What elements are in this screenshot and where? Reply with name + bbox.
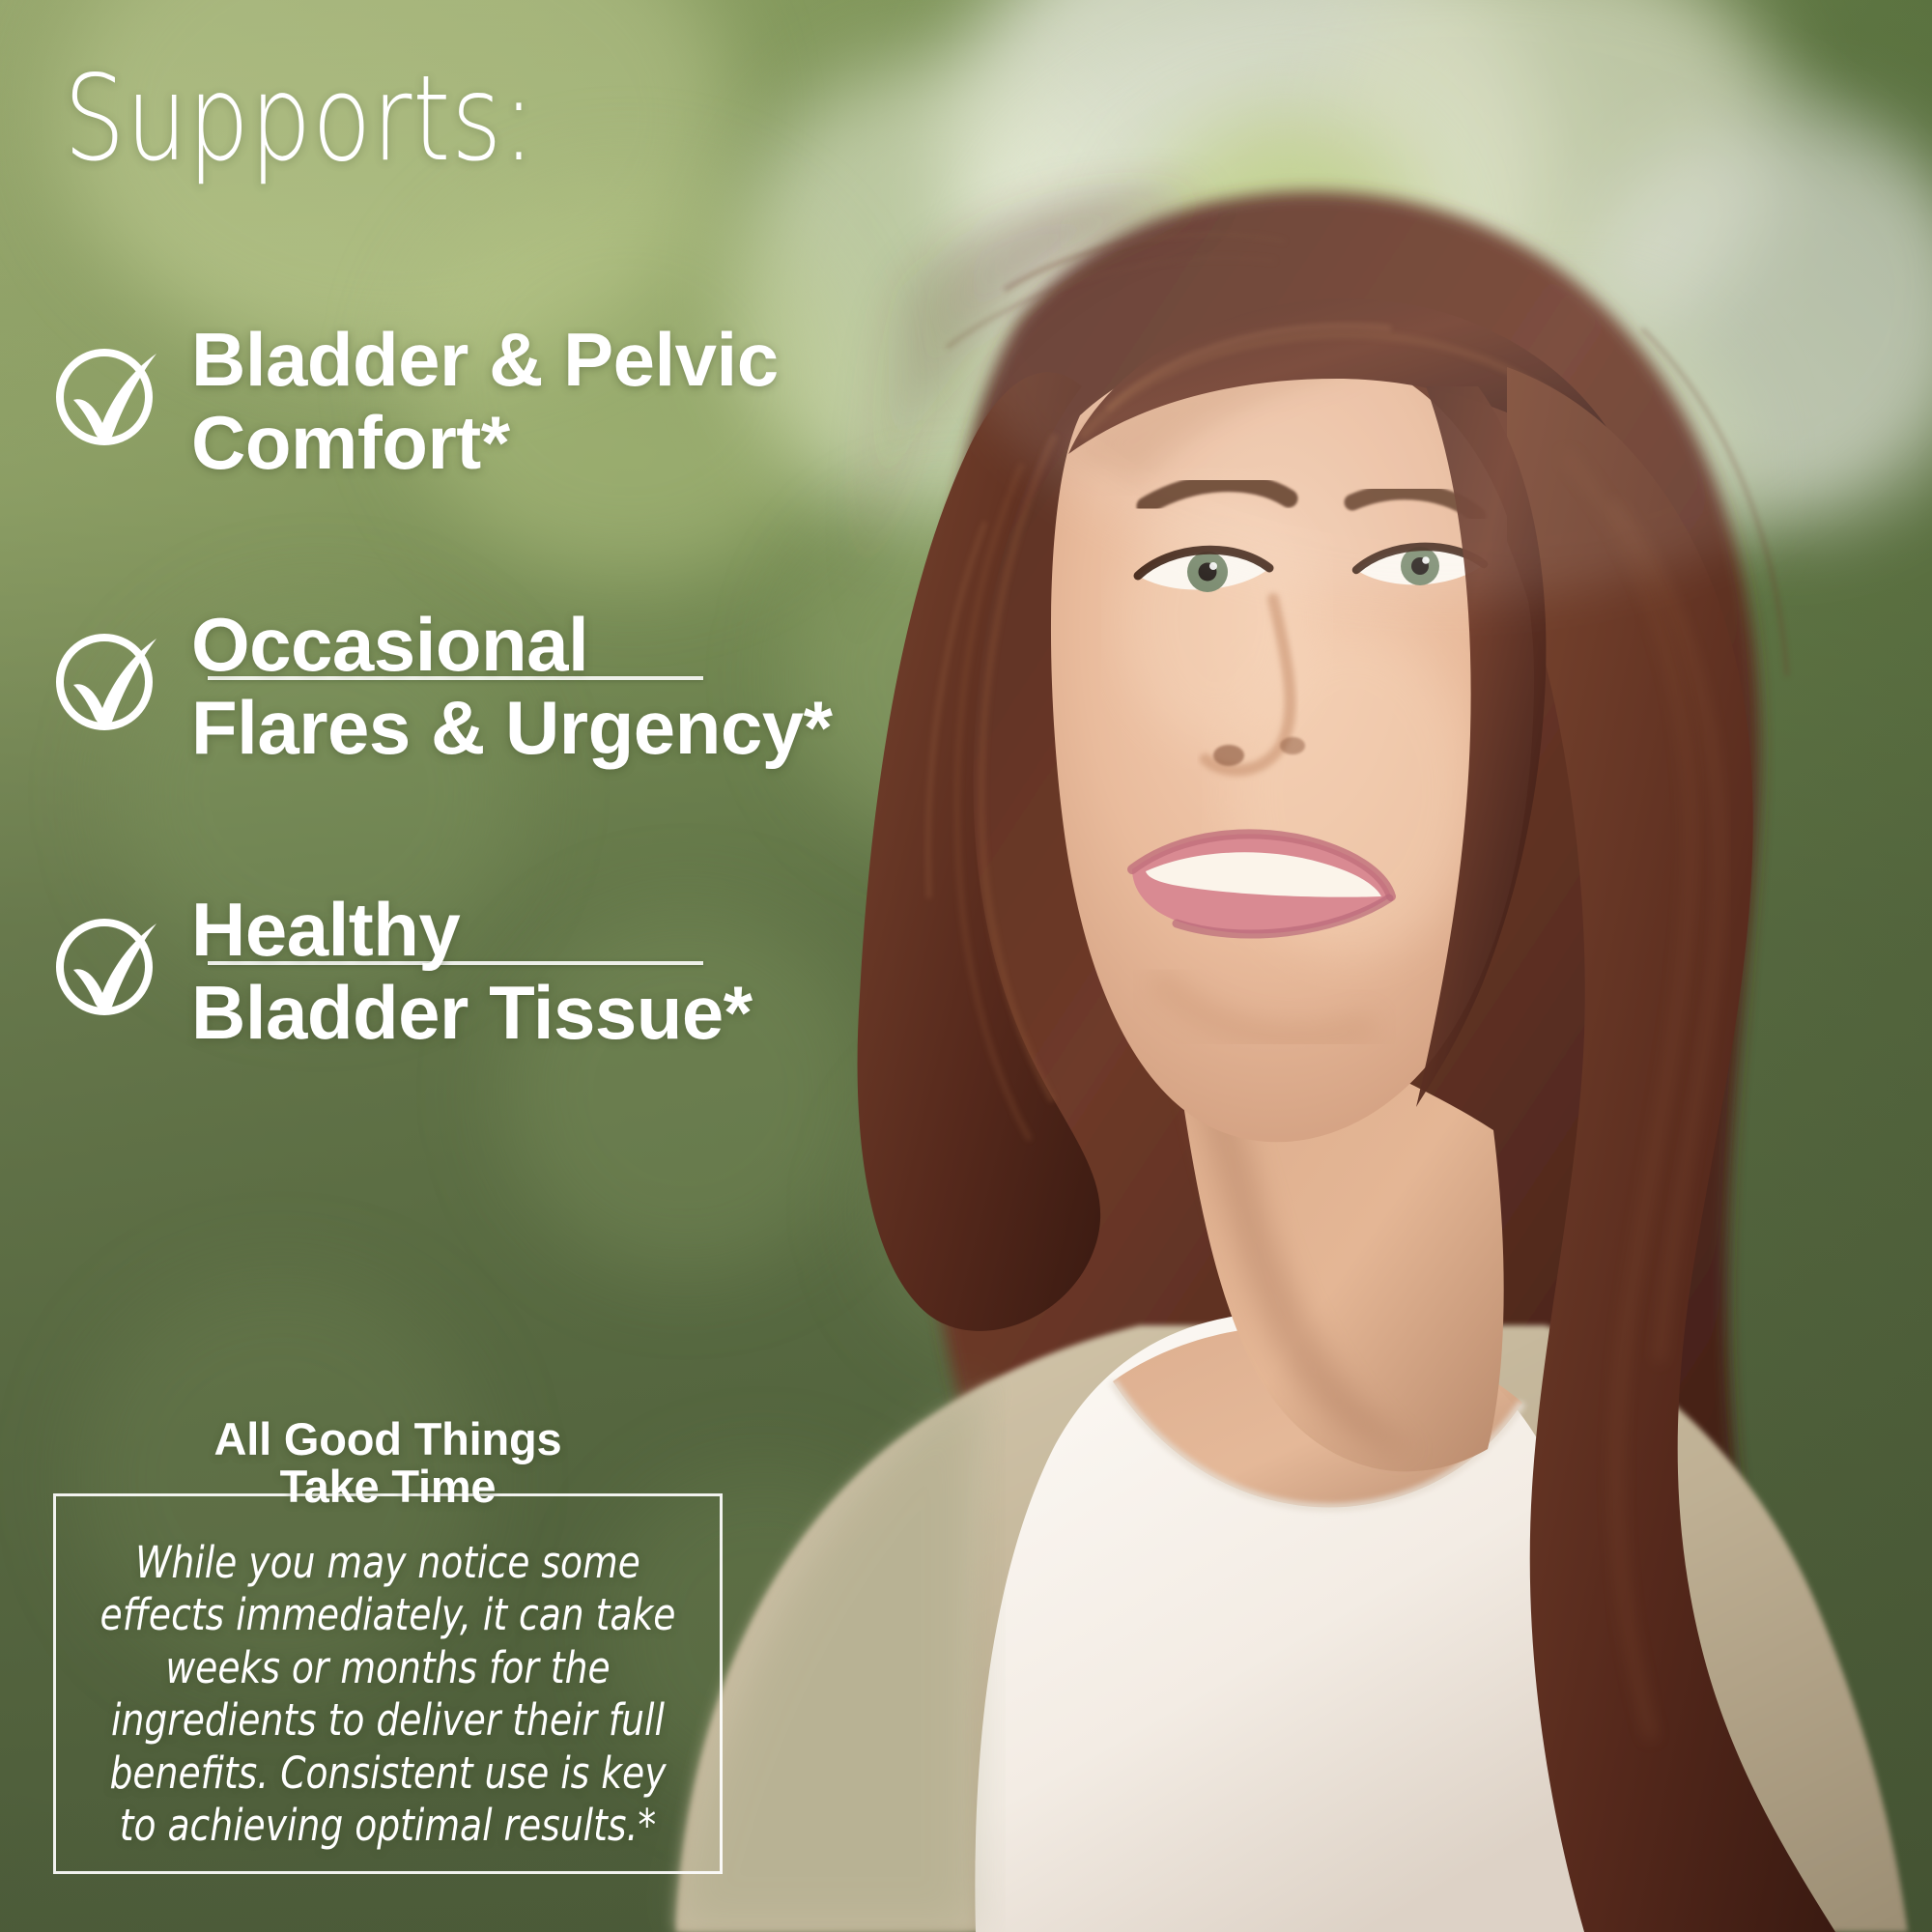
check-circle-icon [48, 906, 164, 1022]
callout-border-gap [201, 1493, 587, 1496]
benefit-item: Healthy Bladder Tissue* [48, 889, 753, 1055]
check-circle-icon [48, 621, 164, 737]
benefit-item: Bladder & Pelvic Comfort* [48, 319, 779, 485]
content-column: Supports: Bladder & Pelvic Comfort* Occa… [0, 0, 966, 1932]
benefit-label: Bladder & Pelvic Comfort* [191, 319, 779, 485]
check-circle-icon [48, 336, 164, 452]
callout-body: While you may notice some effects immedi… [94, 1537, 682, 1853]
benefit-label: Occasional Flares & Urgency* [191, 604, 832, 770]
page-title: Supports: [64, 60, 536, 178]
benefit-item: Occasional Flares & Urgency* [48, 604, 832, 770]
promo-graphic: Supports: Bladder & Pelvic Comfort* Occa… [0, 0, 1932, 1932]
callout-box: All Good Things Take Time While you may … [53, 1493, 723, 1874]
benefit-label: Healthy Bladder Tissue* [191, 889, 753, 1055]
